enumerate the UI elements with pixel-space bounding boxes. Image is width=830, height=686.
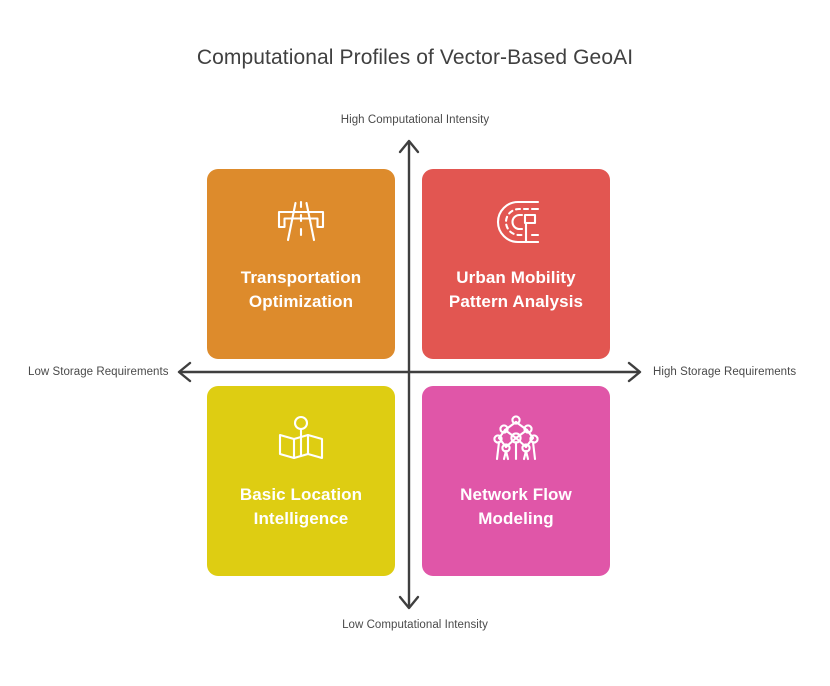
card-label-line2: Pattern Analysis xyxy=(449,292,583,311)
highway-overpass-icon xyxy=(273,194,329,250)
axis-label-right: High Storage Requirements xyxy=(653,366,796,378)
axis-label-bottom: Low Computational Intensity xyxy=(0,619,830,631)
axis-label-top: High Computational Intensity xyxy=(0,114,830,126)
quadrant-card-label: Urban Mobility Pattern Analysis xyxy=(428,266,604,314)
arrowhead-left-icon xyxy=(179,363,190,381)
quadrant-card-basic-location-intelligence[interactable]: Basic Location Intelligence xyxy=(207,386,395,576)
axis-lines xyxy=(0,0,830,686)
card-label-line1: Network Flow xyxy=(460,485,572,504)
quadrant-card-label: Transportation Optimization xyxy=(213,266,389,314)
network-graph-nodes-icon xyxy=(488,411,544,467)
folded-map-pin-icon xyxy=(273,411,329,467)
route-map-arcs-icon xyxy=(488,194,544,250)
arrowhead-up-icon xyxy=(400,141,418,152)
quadrant-card-transportation-optimization[interactable]: Transportation Optimization xyxy=(207,169,395,359)
quadrant-diagram-canvas: Computational Profiles of Vector-Based G… xyxy=(0,0,830,686)
quadrant-card-label: Basic Location Intelligence xyxy=(213,483,389,531)
card-label-line2: Intelligence xyxy=(254,509,349,528)
quadrant-card-label: Network Flow Modeling xyxy=(428,483,604,531)
card-label-line2: Optimization xyxy=(249,292,353,311)
arrowhead-down-icon xyxy=(400,597,418,608)
card-label-line1: Transportation xyxy=(241,268,361,287)
card-label-line2: Modeling xyxy=(478,509,553,528)
arrowhead-right-icon xyxy=(629,363,640,381)
quadrant-card-urban-mobility-pattern-analysis[interactable]: Urban Mobility Pattern Analysis xyxy=(422,169,610,359)
axis-label-left: Low Storage Requirements xyxy=(28,366,169,378)
card-label-line1: Basic Location xyxy=(240,485,362,504)
quadrant-card-network-flow-modeling[interactable]: Network Flow Modeling xyxy=(422,386,610,576)
card-label-line1: Urban Mobility xyxy=(456,268,575,287)
page-title: Computational Profiles of Vector-Based G… xyxy=(0,46,830,70)
